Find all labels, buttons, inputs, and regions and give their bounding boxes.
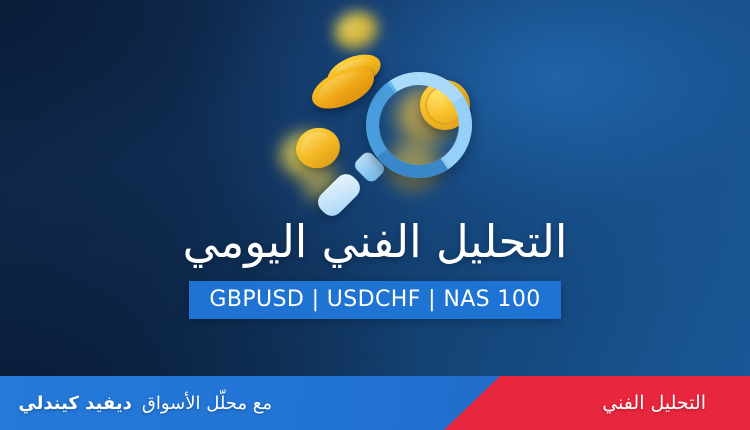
ticker-symbols-badge: GBPUSD | USDCHF | NAS 100 <box>189 281 560 319</box>
magnifier-handle <box>314 170 365 221</box>
page-title: التحليل الفني اليومي <box>0 218 750 267</box>
headline-block: التحليل الفني اليومي GBPUSD | USDCHF | N… <box>0 218 750 319</box>
presenter-prefix-label: مع محلّل الأسواق <box>142 393 272 414</box>
category-label: التحليل الفني <box>602 376 706 430</box>
promo-banner: التحليل الفني اليومي GBPUSD | USDCHF | N… <box>0 0 750 430</box>
presenter-credit: مع محلّل الأسواق ديفيد كيندلي <box>18 376 272 430</box>
gold-coin-icon <box>330 6 383 54</box>
footer-bar: مع محلّل الأسواق ديفيد كيندلي التحليل ال… <box>0 376 750 430</box>
presenter-name-label: ديفيد كيندلي <box>18 393 132 414</box>
hero-artwork <box>278 0 498 215</box>
